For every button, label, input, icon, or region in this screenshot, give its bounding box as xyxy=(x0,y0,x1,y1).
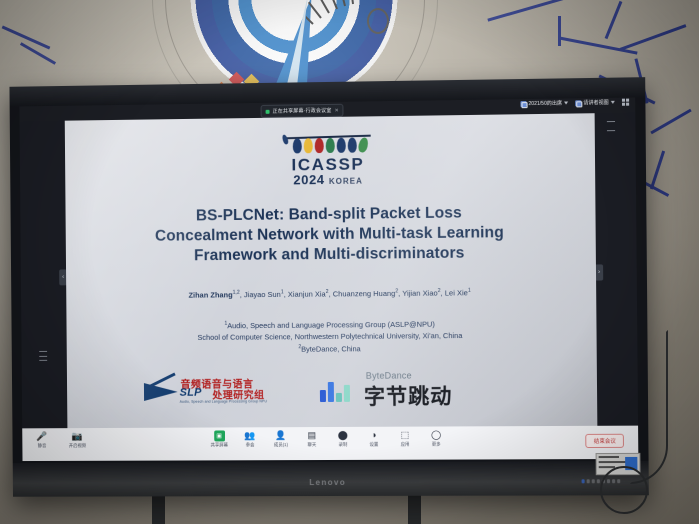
attendance-dropdown[interactable]: 2021/50的出席 xyxy=(520,99,568,107)
view-mode-dropdown[interactable]: 请讲者视图 xyxy=(575,99,615,107)
toolbar-left-group: 🎤 静音 📷 开启视频 xyxy=(28,431,91,449)
bytedance-cn: 字节跳动 xyxy=(364,380,453,411)
author-sup: 1 xyxy=(468,288,471,294)
chevron-down-icon xyxy=(611,101,615,104)
affiliation-line: 2ByteDance, China xyxy=(90,342,572,358)
toolbar-label: 录制 xyxy=(338,442,347,448)
rail-grip-icon[interactable] xyxy=(39,351,47,361)
slide-footer-logos: 音频语音与语言 SLP 处理研究组 Audio, Speech and Lang… xyxy=(67,369,597,412)
participants-icon: 👥 xyxy=(244,430,255,441)
author-sup: 1,2 xyxy=(233,290,240,296)
header-right-controls: 2021/50的出席 请讲者视图 xyxy=(520,99,629,108)
toolbar-left-label: 静音 xyxy=(38,443,47,449)
power-cable xyxy=(630,330,668,484)
toolbar-label: 共享屏幕 xyxy=(211,442,229,448)
bytedance-latin: ByteDance xyxy=(366,370,412,380)
lantern xyxy=(326,138,335,153)
presentation-slide[interactable]: ICASSP 2024 KOREA BS-PLCNet: Band-split … xyxy=(65,113,598,428)
toolbar-label: 参会 xyxy=(246,442,255,448)
author-name: Yijian Xiao xyxy=(402,288,437,297)
author-name: Xianjun Xia xyxy=(288,289,326,298)
microphone-icon: 🎤 xyxy=(36,431,47,442)
people-icon xyxy=(520,101,526,107)
aslp-npu-logo: 音频语音与语言 SLP 处理研究组 Audio, Speech and Lang… xyxy=(144,373,278,408)
power-cable-loop xyxy=(600,466,648,514)
toolbar-apps-button[interactable]: ⬚ 应用 xyxy=(391,430,419,448)
toolbar-label: 设置 xyxy=(369,442,378,448)
affiliation-text: ByteDance, China xyxy=(301,345,361,354)
camera-icon: 📷 xyxy=(72,431,83,442)
icassp-location: KOREA xyxy=(329,177,363,186)
lantern xyxy=(304,138,313,153)
attendance-label: 2021/50的出席 xyxy=(528,100,562,108)
toolbar-label: 应用 xyxy=(401,442,410,448)
author-name: Chuanzeng Huang xyxy=(333,289,396,299)
affiliation-text: Audio, Speech and Language Processing Gr… xyxy=(227,320,435,331)
author-sup: 1 xyxy=(281,289,284,295)
slide-affiliations: 1Audio, Speech and Language Processing G… xyxy=(90,317,572,357)
monitor-bezel-bottom: Lenovo xyxy=(13,461,649,497)
rail-collapse-right[interactable]: › xyxy=(595,264,603,280)
toolbar-chat-button[interactable]: ▤ 聊天 xyxy=(298,430,326,448)
author-name: Zihan Zhang xyxy=(188,290,232,299)
lantern xyxy=(337,138,346,153)
photograph-scene: 正在共享屏幕·行政会议室 ✕ 2021/50的出席 请讲者视图 xyxy=(0,0,699,524)
display-monitor: 正在共享屏幕·行政会议室 ✕ 2021/50的出席 请讲者视图 xyxy=(9,77,648,497)
grid-view-icon[interactable] xyxy=(622,99,629,106)
toolbar-label: 聊天 xyxy=(307,442,316,448)
bytedance-logo: ByteDance 字节跳动 xyxy=(320,370,511,409)
toolbar-center-group: ▣ 共享屏幕 👥 参会 👤 成员(1) ▤ 聊天 xyxy=(205,429,450,448)
lantern xyxy=(293,138,302,153)
meeting-toolbar: 🎤 静音 📷 开启视频 ▣ 共享屏幕 👥 参会 xyxy=(22,426,638,461)
close-icon[interactable]: ✕ xyxy=(334,107,338,113)
share-status-icon xyxy=(266,109,270,113)
author-name: Lei Xie xyxy=(445,288,468,297)
share-screen-icon: ▣ xyxy=(214,430,225,441)
icassp-logo: ICASSP 2024 KOREA xyxy=(65,129,595,191)
rail-grip-icon[interactable] xyxy=(607,121,615,131)
lantern xyxy=(348,138,357,153)
author-sup: 2 xyxy=(438,288,441,294)
lantern xyxy=(281,134,289,145)
share-notice-label: 正在共享屏幕·行政会议室 xyxy=(273,107,332,115)
aslp-abbr: SLP xyxy=(180,387,202,399)
toolbar-members-button[interactable]: 👤 成员(1) xyxy=(267,430,295,448)
slide-authors: Zihan Zhang1,2, Jiayao Sun1, Xianjun Xia… xyxy=(90,287,572,301)
layout-icon xyxy=(575,100,581,106)
toolbar-more-button[interactable]: ◯ 更多 xyxy=(422,429,450,447)
view-mode-label: 请讲者视图 xyxy=(583,99,608,106)
toolbar-label: 成员(1) xyxy=(274,442,288,448)
icassp-year: 2024 xyxy=(293,172,324,187)
toolbar-settings-button[interactable]: ◑ 设置 xyxy=(360,430,388,448)
author-sup: 2 xyxy=(326,289,329,295)
record-icon: ⬤ xyxy=(337,430,348,441)
end-meeting-button[interactable]: 结束会议 xyxy=(586,434,624,448)
bytedance-bars-icon xyxy=(320,382,354,402)
toolbar-mute-button[interactable]: 🎤 静音 xyxy=(28,431,56,449)
toolbar-label: 更多 xyxy=(432,442,441,448)
participant-rail-left: ‹ xyxy=(20,121,68,429)
person-icon: 👤 xyxy=(275,430,286,441)
slide-title: BS-PLCNet: Band-split Packet Loss Concea… xyxy=(95,202,565,267)
toolbar-participants-button[interactable]: 👥 参会 xyxy=(236,430,264,448)
lantern xyxy=(357,137,369,154)
author-sup: 2 xyxy=(395,288,398,294)
toolbar-record-button[interactable]: ⬤ 录制 xyxy=(329,430,357,448)
aslp-subtitle: Audio, Speech and Language Processing Gr… xyxy=(180,399,267,403)
apps-icon: ⬚ xyxy=(399,430,410,441)
chevron-down-icon xyxy=(564,101,568,104)
toolbar-share-screen-button[interactable]: ▣ 共享屏幕 xyxy=(205,430,233,448)
more-icon: ◯ xyxy=(431,430,442,441)
settings-icon: ◑ xyxy=(368,430,379,441)
toolbar-left-label: 开启视频 xyxy=(69,443,86,449)
toolbar-video-button[interactable]: 📷 开启视频 xyxy=(63,431,91,449)
monitor-brand-label: Lenovo xyxy=(13,477,649,488)
screen-content: 正在共享屏幕·行政会议室 ✕ 2021/50的出席 请讲者视图 xyxy=(19,97,638,461)
author-name: Jiayao Sun xyxy=(244,290,281,299)
icassp-lantern-graphic xyxy=(273,132,383,155)
screen-share-notice[interactable]: 正在共享屏幕·行政会议室 ✕ xyxy=(261,104,344,118)
lantern xyxy=(315,138,324,153)
chat-icon: ▤ xyxy=(306,430,317,441)
affiliation-text: School of Computer Science, Northwestern… xyxy=(197,331,462,342)
